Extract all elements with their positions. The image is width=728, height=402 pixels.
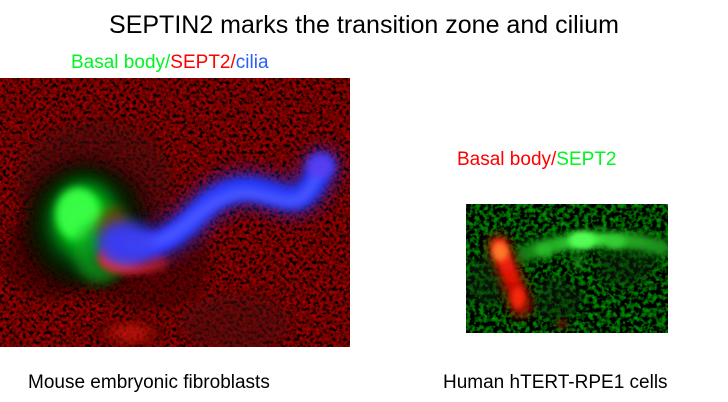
legend-label-cilia: cilia [236,52,269,73]
legend-label-basal-body: Basal body [457,149,551,170]
page-title: SEPTIN2 marks the transition zone and ci… [0,11,728,40]
panel-caption-left: Mouse embryonic fibroblasts [28,373,270,392]
micrograph-panel-left [0,78,350,347]
legend-label-basal-body: Basal body [71,52,165,73]
channel-legend-right: Basal body/SEPT2 [457,150,617,169]
micrograph-right-canvas [466,204,668,333]
panel-caption-right: Human hTERT-RPE1 cells [443,373,668,392]
micrograph-left-canvas [0,78,350,347]
micrograph-panel-right [466,204,668,333]
channel-legend-left: Basal body/SEPT2/cilia [71,53,269,72]
legend-label-sept2: SEPT2 [556,149,616,170]
legend-label-sept2: SEPT2 [170,52,230,73]
